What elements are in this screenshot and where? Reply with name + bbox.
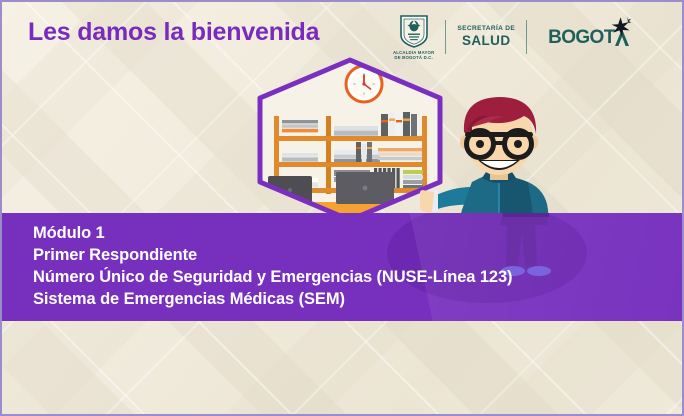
- band-line-4: Sistema de Emergencias Médicas (SEM): [33, 288, 684, 310]
- welcome-slide: Les damos la bienvenida ALCALDÍA MAYOR D…: [0, 0, 684, 416]
- bogota-coat-of-arms-icon: [399, 14, 429, 48]
- logo-divider-1: [445, 20, 446, 54]
- band-line-2: Primer Respondiente: [33, 244, 684, 266]
- laptop-center: [336, 172, 394, 204]
- band-line-3: Número Único de Seguridad y Emergencias …: [33, 266, 684, 288]
- character-head: [460, 97, 538, 175]
- band-line-1: Módulo 1: [33, 222, 684, 244]
- bogota-wordmark: BOGOT: [548, 28, 615, 47]
- module-title-text-block: Módulo 1 Primer Respondiente Número Únic…: [2, 213, 684, 310]
- secretaria-label-small: SECRETARÍA DE: [457, 26, 515, 33]
- secretaria-label-big: SALUD: [462, 33, 511, 49]
- bogota-star-icon: [608, 16, 632, 38]
- module-title-band: Módulo 1 Primer Respondiente Número Únic…: [2, 213, 684, 321]
- bogota-logo-block: BOGOT: [527, 28, 641, 47]
- secretaria-logo-block: SECRETARÍA DE SALUD: [446, 26, 526, 48]
- page-title: Les damos la bienvenida: [28, 18, 319, 47]
- logo-divider-2: [526, 20, 527, 54]
